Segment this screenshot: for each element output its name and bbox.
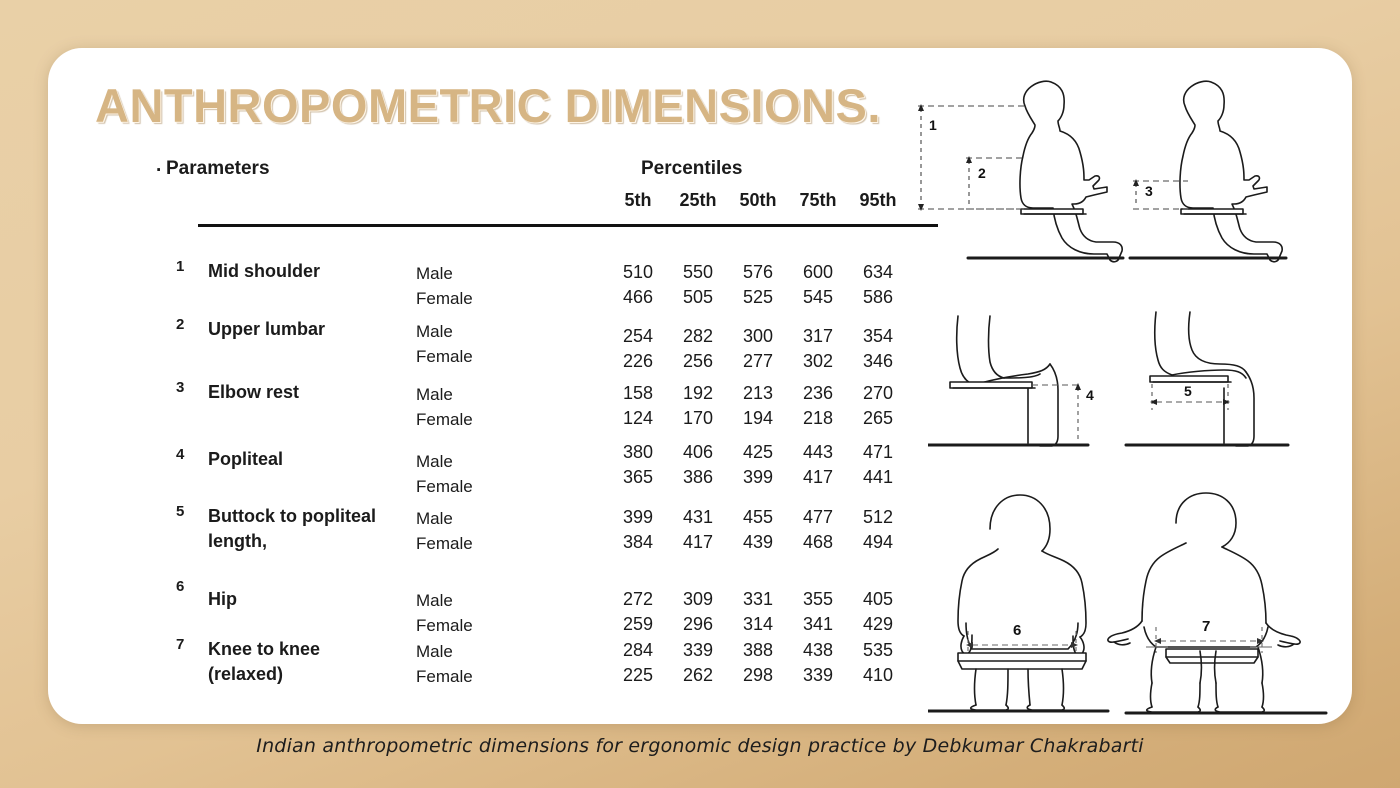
- cell-female-75th: 417: [788, 465, 848, 490]
- cell-male-50th: 388: [728, 638, 788, 663]
- arrow-head-right-6: [1071, 642, 1078, 648]
- cell-male-5th: 510: [608, 260, 668, 285]
- cell-male-50th: 576: [728, 260, 788, 285]
- cell-female-50th: 439: [728, 530, 788, 555]
- gender-label-male: Male: [416, 319, 473, 344]
- percentile-header-75th: 75th: [788, 190, 848, 211]
- gender-label-female: Female: [416, 286, 473, 311]
- row-parameter-label: Upper lumbar: [208, 317, 325, 342]
- gender-label-male: Male: [416, 639, 473, 664]
- row-index: 4: [176, 446, 184, 463]
- gender-label-male: Male: [416, 449, 473, 474]
- row-values: 284 339 388 438 535 225 262 298 339 410: [608, 638, 908, 688]
- table-row: 6 Hip Male Female 272 309 331 355 405 25…: [128, 578, 938, 630]
- dimension-label-4: 4: [1086, 387, 1094, 403]
- row-values: 399 431 455 477 512 384 417 439 468 494: [608, 505, 908, 555]
- gender-label-male: Male: [416, 588, 473, 613]
- cell-female-75th: 545: [788, 285, 848, 310]
- cell-female-5th: 226: [608, 349, 668, 374]
- cell-male-5th: 284: [608, 638, 668, 663]
- arrow-head-up-4: [1075, 383, 1081, 390]
- male-values: 158 192 213 236 270: [608, 381, 908, 406]
- column-header-percentiles: Percentiles: [641, 158, 742, 180]
- cell-female-5th: 259: [608, 612, 668, 637]
- cell-female-25th: 417: [668, 530, 728, 555]
- frontal-views-row: 6 7: [928, 483, 1328, 718]
- percentile-column-headers: 5th 25th 50th 75th 95th: [608, 190, 908, 211]
- figures-panel: 1 2 3: [868, 58, 1352, 718]
- cell-male-25th: 550: [668, 260, 728, 285]
- arrow-head-up-2: [966, 156, 972, 163]
- male-values: 284 339 388 438 535: [608, 638, 908, 663]
- cell-female-50th: 525: [728, 285, 788, 310]
- arrow-head-left-7: [1154, 638, 1161, 644]
- female-values: 225 262 298 339 410: [608, 663, 908, 688]
- arrow-head-down-1: [918, 204, 924, 211]
- cell-female-50th: 298: [728, 663, 788, 688]
- row-values: 158 192 213 236 270 124 170 194 218 265: [608, 381, 908, 431]
- row-values: 380 406 425 443 471 365 386 399 417 441: [608, 440, 908, 490]
- slide-caption: Indian anthropometric dimensions for erg…: [0, 735, 1400, 757]
- seated-side-view-diagram: 1 2 3: [908, 68, 1328, 268]
- female-values: 466 505 525 545 586: [608, 285, 908, 310]
- cell-female-25th: 386: [668, 465, 728, 490]
- gender-label-female: Female: [416, 664, 473, 689]
- arrow-head-up-3: [1133, 179, 1139, 186]
- page-title: ANTHROPOMETRIC DIMENSIONS.: [95, 78, 881, 133]
- cell-male-5th: 158: [608, 381, 668, 406]
- cell-male-5th: 254: [608, 324, 668, 349]
- cell-female-5th: 365: [608, 465, 668, 490]
- cell-female-50th: 399: [728, 465, 788, 490]
- row-values: 510 550 576 600 634 466 505 525 545 586: [608, 260, 908, 310]
- row-values: 272 309 331 355 405 259 296 314 341 429: [608, 587, 908, 637]
- dimension-line-4: [1032, 385, 1080, 442]
- row-parameter-label: Mid shoulder: [208, 259, 320, 284]
- cell-male-25th: 406: [668, 440, 728, 465]
- male-values: 510 550 576 600 634: [608, 260, 908, 285]
- anthropometric-data-table: Parameters Percentiles 5th 25th 50th 75t…: [128, 148, 888, 708]
- table-row: 7 Knee to knee (relaxed) Male Female 284…: [128, 636, 938, 688]
- percentile-header-25th: 25th: [668, 190, 728, 211]
- cell-female-25th: 256: [668, 349, 728, 374]
- leg-seat-profile-row: 4 5: [928, 298, 1328, 458]
- cell-male-25th: 309: [668, 587, 728, 612]
- cell-male-75th: 236: [788, 381, 848, 406]
- cell-female-75th: 302: [788, 349, 848, 374]
- male-values: 399 431 455 477 512: [608, 505, 908, 530]
- dimension-label-3: 3: [1145, 183, 1153, 199]
- cell-male-25th: 431: [668, 505, 728, 530]
- row-index: 6: [176, 578, 184, 595]
- row-index: 3: [176, 379, 184, 396]
- cell-male-25th: 339: [668, 638, 728, 663]
- cell-male-5th: 399: [608, 505, 668, 530]
- gender-label-female: Female: [416, 407, 473, 432]
- cell-male-75th: 477: [788, 505, 848, 530]
- row-gender-labels: Male Female: [416, 449, 473, 499]
- dimension-label-1: 1: [929, 117, 937, 133]
- cell-female-25th: 296: [668, 612, 728, 637]
- cell-female-50th: 194: [728, 406, 788, 431]
- table-row: 4 Popliteal Male Female 380 406 425 443 …: [128, 446, 938, 498]
- cell-female-75th: 468: [788, 530, 848, 555]
- cell-female-75th: 341: [788, 612, 848, 637]
- cell-male-50th: 213: [728, 381, 788, 406]
- dimension-label-6: 6: [1013, 622, 1021, 639]
- cell-female-5th: 225: [608, 663, 668, 688]
- cell-male-50th: 331: [728, 587, 788, 612]
- row-gender-labels: Male Female: [416, 639, 473, 689]
- gender-label-female: Female: [416, 344, 473, 369]
- female-values: 384 417 439 468 494: [608, 530, 908, 555]
- row-index: 7: [176, 636, 184, 653]
- gender-label-female: Female: [416, 531, 473, 556]
- arrow-head-left-5: [1150, 399, 1157, 405]
- row-parameter-label: Buttock to popliteal length,: [208, 504, 376, 554]
- row-index: 2: [176, 316, 184, 333]
- cell-female-5th: 124: [608, 406, 668, 431]
- table-row: 2 Upper lumbar Male Female 254 282 300 3…: [128, 316, 938, 368]
- cell-male-25th: 192: [668, 381, 728, 406]
- column-header-parameters: Parameters: [166, 158, 270, 180]
- cell-male-5th: 272: [608, 587, 668, 612]
- row-parameter-label: Hip: [208, 587, 237, 612]
- cell-male-75th: 317: [788, 324, 848, 349]
- male-values: 380 406 425 443 471: [608, 440, 908, 465]
- row-parameter-label: Elbow rest: [208, 380, 299, 405]
- male-values: 254 282 300 317 354: [608, 324, 908, 349]
- cell-female-50th: 314: [728, 612, 788, 637]
- dimension-label-2: 2: [978, 165, 986, 181]
- cell-male-75th: 600: [788, 260, 848, 285]
- row-gender-labels: Male Female: [416, 319, 473, 369]
- row-parameter-label: Knee to knee (relaxed): [208, 637, 320, 687]
- gender-label-female: Female: [416, 474, 473, 499]
- arrow-head-right-5: [1223, 399, 1230, 405]
- table-row: 3 Elbow rest Male Female 158 192 213 236…: [128, 379, 938, 431]
- cell-female-5th: 466: [608, 285, 668, 310]
- cell-male-75th: 443: [788, 440, 848, 465]
- row-gender-labels: Male Female: [416, 382, 473, 432]
- female-values: 365 386 399 417 441: [608, 465, 908, 490]
- percentile-header-5th: 5th: [608, 190, 668, 211]
- cell-male-75th: 355: [788, 587, 848, 612]
- dimension-label-5: 5: [1184, 383, 1192, 399]
- cell-female-25th: 170: [668, 406, 728, 431]
- row-index: 1: [176, 258, 184, 275]
- cell-female-50th: 277: [728, 349, 788, 374]
- cell-male-50th: 455: [728, 505, 788, 530]
- cell-male-75th: 438: [788, 638, 848, 663]
- row-gender-labels: Male Female: [416, 588, 473, 638]
- cell-male-25th: 282: [668, 324, 728, 349]
- cell-male-5th: 380: [608, 440, 668, 465]
- cell-male-50th: 300: [728, 324, 788, 349]
- dimension-label-7: 7: [1202, 618, 1210, 635]
- row-gender-labels: Male Female: [416, 261, 473, 311]
- table-row: 1 Mid shoulder Male Female 510 550 576 6…: [128, 258, 938, 310]
- male-values: 272 309 331 355 405: [608, 587, 908, 612]
- gender-label-female: Female: [416, 613, 473, 638]
- female-values: 124 170 194 218 265: [608, 406, 908, 431]
- gender-label-male: Male: [416, 506, 473, 531]
- female-values: 259 296 314 341 429: [608, 612, 908, 637]
- row-parameter-label: Popliteal: [208, 447, 283, 472]
- percentile-header-50th: 50th: [728, 190, 788, 211]
- cell-female-25th: 505: [668, 285, 728, 310]
- arrow-head-up-1: [918, 104, 924, 111]
- cell-male-50th: 425: [728, 440, 788, 465]
- cell-female-75th: 339: [788, 663, 848, 688]
- cell-female-25th: 262: [668, 663, 728, 688]
- cell-female-75th: 218: [788, 406, 848, 431]
- dimension-line-6: [968, 631, 1076, 651]
- cell-female-5th: 384: [608, 530, 668, 555]
- gender-label-male: Male: [416, 261, 473, 286]
- dimension-line-2: [966, 158, 1026, 209]
- slide-card: ANTHROPOMETRIC DIMENSIONS. Parameters Pe…: [48, 48, 1352, 724]
- header-divider-rule: [198, 224, 938, 227]
- row-values: 254 282 300 317 354 226 256 277 302 346: [608, 324, 908, 374]
- gender-label-male: Male: [416, 382, 473, 407]
- female-values: 226 256 277 302 346: [608, 349, 908, 374]
- row-index: 5: [176, 503, 184, 520]
- leg-seat-profile-diagram: 4 5: [928, 298, 1328, 458]
- frontal-views-diagram: 6 7: [928, 483, 1328, 718]
- seated-side-view-row: 1 2 3: [908, 68, 1328, 268]
- row-gender-labels: Male Female: [416, 506, 473, 556]
- table-row: 5 Buttock to popliteal length, Male Fema…: [128, 503, 938, 555]
